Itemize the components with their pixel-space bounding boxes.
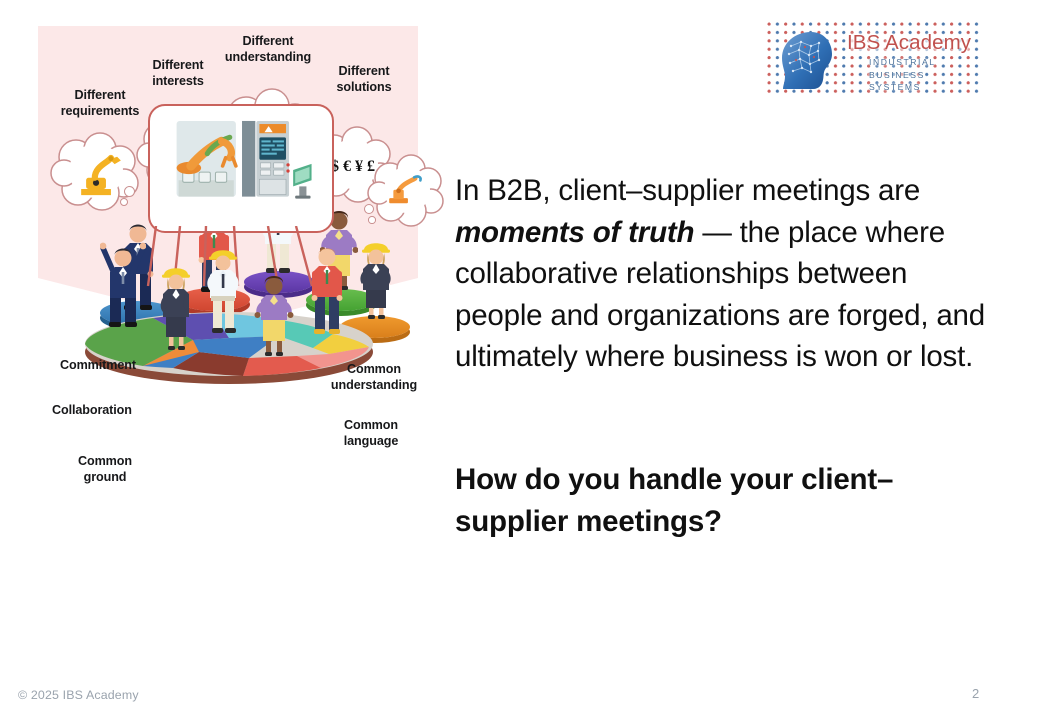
- thought-bubble-requirements: [50, 131, 142, 215]
- label-different-solutions: Different solutions: [322, 64, 406, 95]
- shared-speech-bubble: [148, 104, 334, 233]
- logo-title: IBS Academy: [847, 30, 979, 56]
- paragraph-emphasis: moments of truth: [455, 216, 694, 249]
- label-commitment: Commitment: [60, 358, 160, 374]
- label-different-requirements: Different requirements: [52, 88, 148, 119]
- page-number: 2: [972, 686, 979, 701]
- label-different-understanding: Different understanding: [216, 34, 320, 65]
- logo-wordmark: IBS Academy INDUSTRIAL BUSINESS SYSTEMS: [847, 24, 979, 94]
- person-bottom-hardhat-woman: [158, 262, 194, 354]
- label-different-interests: Different interests: [136, 58, 220, 89]
- label-collaboration: Collaboration: [52, 403, 162, 419]
- logo-subtitle-industrial: INDUSTRIAL: [869, 56, 979, 69]
- slide: IBS Academy INDUSTRIAL BUSINESS SYSTEMS: [0, 0, 1040, 720]
- person-bottom-purple-blouse: [254, 274, 294, 360]
- brain-head-icon: [777, 30, 841, 92]
- person-bottom-red-shirt: [308, 244, 346, 338]
- person-bottom-arms-up: [100, 238, 146, 328]
- closing-question: How do you handle your client–supplier m…: [455, 459, 985, 542]
- footer-copyright: © 2025 IBS Academy: [18, 688, 139, 702]
- concept-illustration: $ € ¥ £: [38, 26, 418, 681]
- person-bottom-hardhat-white: [204, 244, 242, 336]
- label-common-understanding: Common understanding: [326, 362, 422, 393]
- logo-subtitle-business: BUSINESS: [869, 69, 979, 82]
- logo-subtitle-systems: SYSTEMS: [869, 81, 979, 94]
- ibs-academy-logo: IBS Academy INDUSTRIAL BUSINESS SYSTEMS: [767, 22, 982, 98]
- label-common-language: Common language: [328, 418, 414, 449]
- paragraph-part-1: In B2B, client–supplier meetings are: [455, 174, 920, 207]
- main-paragraph: In B2B, client–supplier meetings are mom…: [455, 170, 985, 378]
- label-common-ground: Common ground: [62, 454, 148, 485]
- thought-bubble-solutions-robot: [368, 154, 446, 230]
